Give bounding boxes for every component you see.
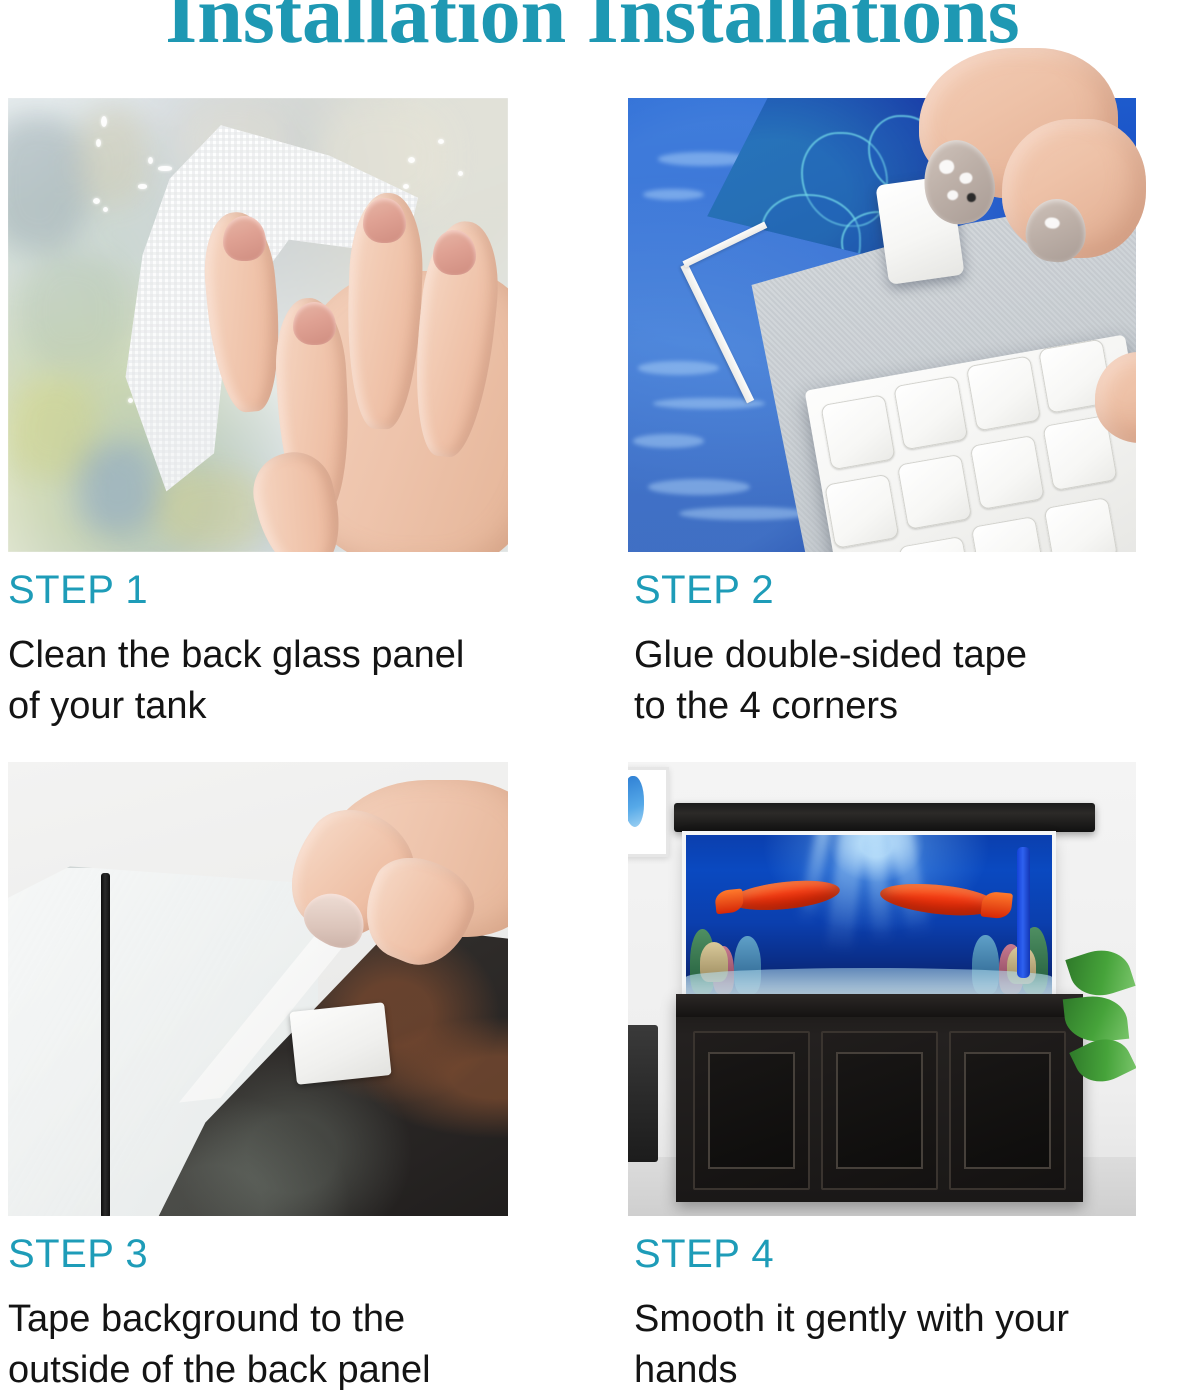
step-2-description-line-2: to the 4 corners <box>634 681 1164 732</box>
step-1-description: Clean the back glass panel of your tank <box>8 630 548 731</box>
installation-guide-page: Installation Installations <box>0 0 1185 1398</box>
step-4-photo <box>628 762 1136 1216</box>
step-2-hand <box>905 48 1137 258</box>
step-1-photo <box>8 98 508 552</box>
wall-picture-frame <box>628 767 669 858</box>
step-4-description-line-1: Smooth it gently with your <box>634 1294 1174 1345</box>
aquarium-heater <box>1017 847 1030 977</box>
hand <box>278 780 508 971</box>
step-2-description-line-1: Glue double-sided tape <box>634 630 1164 681</box>
hand <box>8 98 508 552</box>
aquarium-tank <box>686 835 1052 994</box>
step-1-description-line-1: Clean the back glass panel <box>8 630 548 681</box>
step-2-label: STEP 2 <box>634 568 774 613</box>
cabinet-door-2[interactable] <box>821 1031 939 1190</box>
aquarium-hood <box>674 803 1096 833</box>
cabinet-door-3[interactable] <box>949 1031 1067 1190</box>
step-3-label: STEP 3 <box>8 1232 148 1277</box>
tank-corner-trim <box>101 873 110 1216</box>
cabinet-door-1[interactable] <box>693 1031 811 1190</box>
step-4-description-line-2: hands <box>634 1345 1174 1396</box>
step-1-label: STEP 1 <box>8 568 148 613</box>
step-1-description-line-2: of your tank <box>8 681 548 732</box>
step-3-photo <box>8 762 508 1216</box>
step-3-description-line-1: Tape background to the <box>8 1294 568 1345</box>
step-4-label: STEP 4 <box>634 1232 774 1277</box>
step-2-description: Glue double-sided tape to the 4 corners <box>634 630 1164 731</box>
double-sided-tape-pad <box>289 1002 391 1084</box>
floor-object <box>628 1025 658 1161</box>
cabinet-stand <box>676 994 1082 1203</box>
page-title: Installation Installations <box>0 0 1185 56</box>
step-4-description: Smooth it gently with your hands <box>634 1294 1174 1395</box>
step-3-description: Tape background to the outside of the ba… <box>8 1294 568 1395</box>
house-plant <box>1060 944 1136 1098</box>
step-3-description-line-2: outside of the back panel <box>8 1345 568 1396</box>
